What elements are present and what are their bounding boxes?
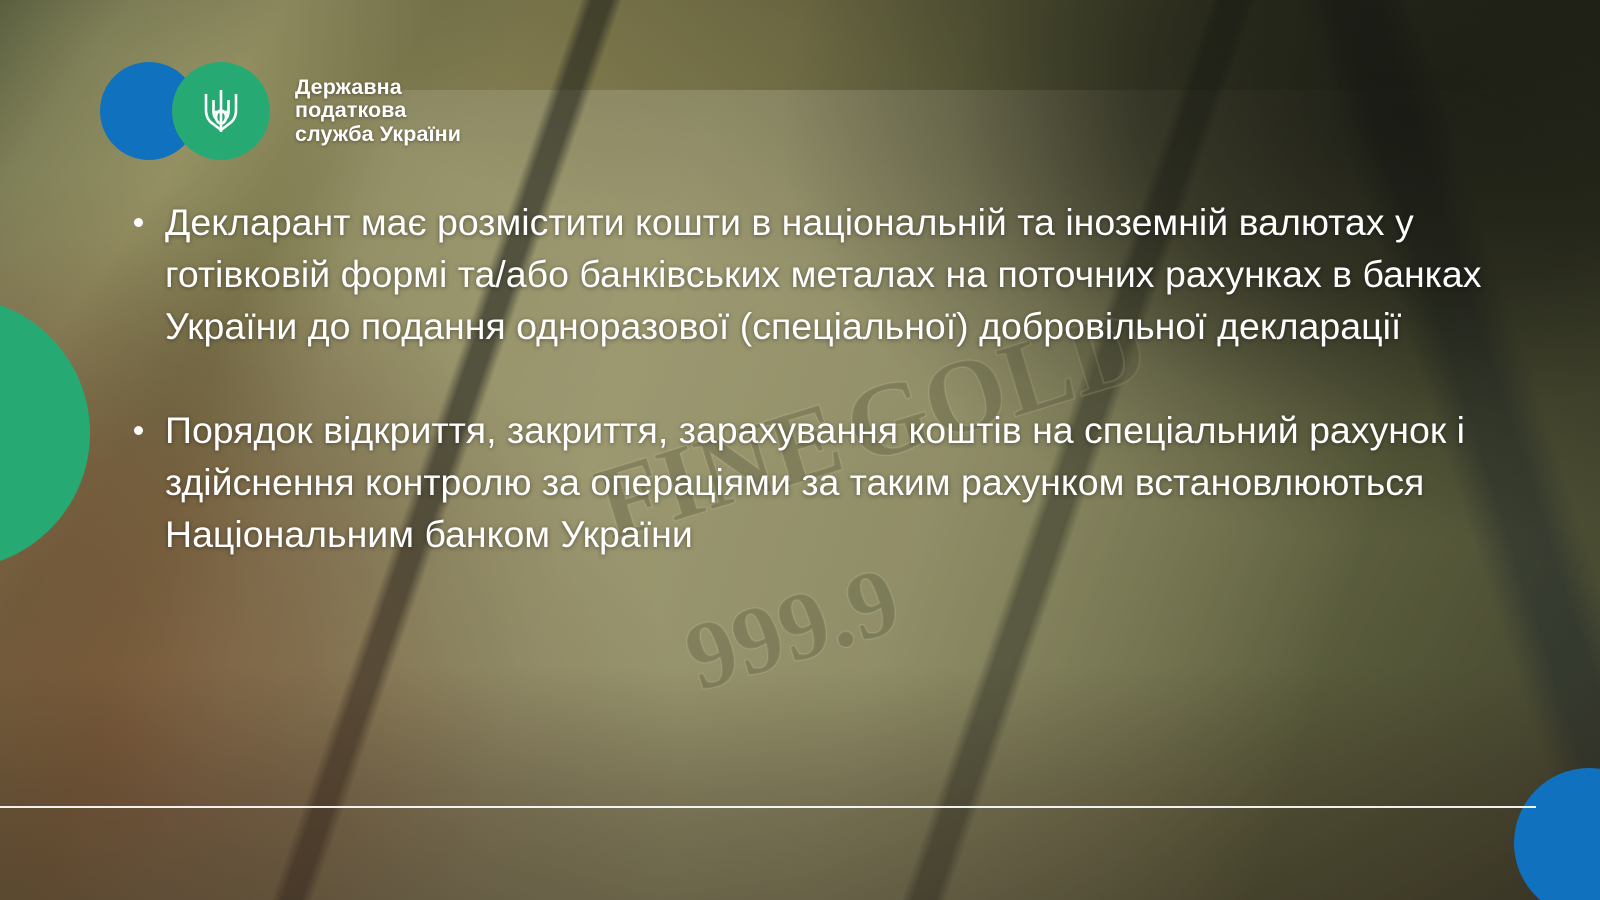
bullet-marker-icon	[134, 218, 143, 227]
bullet-marker-icon	[134, 426, 143, 435]
list-item: Порядок відкриття, закриття, зарахування…	[128, 404, 1488, 560]
bullet-text: Декларант має розмістити кошти в націона…	[165, 201, 1482, 347]
ukrainian-trident-icon	[201, 86, 241, 136]
bullet-text: Порядок відкриття, закриття, зарахування…	[165, 409, 1465, 555]
brand-name-text: Державна податкова служба України	[295, 76, 461, 147]
slide-canvas: FINE GOLD 999.9	[0, 0, 1600, 900]
footer-divider-line	[0, 806, 1536, 808]
brand-logo-lockup: Державна податкова служба України	[100, 62, 461, 160]
bullet-list: Декларант має розмістити кошти в націона…	[128, 196, 1488, 560]
logo-circle-green	[172, 62, 270, 160]
list-item: Декларант має розмістити кошти в націона…	[128, 196, 1488, 352]
